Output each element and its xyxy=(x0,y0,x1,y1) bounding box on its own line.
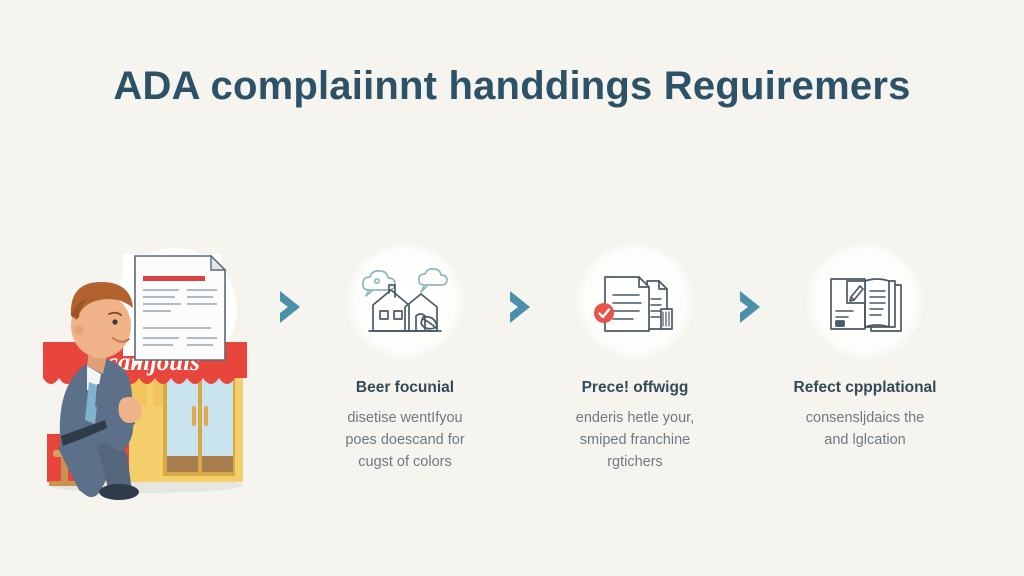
page-title: ADA complaiinnt handdings Reguiremers xyxy=(0,64,1024,109)
process-steps: Beer focunial disetise wentIfyou poes do… xyxy=(0,240,1024,520)
process-step-3: Prece! offwigg enderis hetle your, smipe… xyxy=(520,240,750,510)
process-step-1 xyxy=(35,240,265,510)
step-2-media xyxy=(290,240,520,365)
step-3-body: enderis hetle your, smiped franchine rgt… xyxy=(520,407,750,473)
checked-documents-icon xyxy=(576,244,694,362)
step-3-media xyxy=(520,240,750,365)
step-4-heading: Refect cppplational xyxy=(750,379,980,398)
step-2-body: disetise wentIfyou poes doescand for cug… xyxy=(290,407,520,473)
step-2-heading: Beer focunial xyxy=(290,379,520,398)
document-stack-icon xyxy=(806,244,924,362)
step-3-heading: Prece! offwigg xyxy=(520,379,750,398)
process-step-2: Beer focunial disetise wentIfyou poes do… xyxy=(290,240,520,510)
step-4-body: consensljdaics the and lglcation xyxy=(750,407,980,451)
step-4-media xyxy=(750,240,980,365)
page-title-container: ADA complaiinnt handdings Reguiremers xyxy=(0,64,1024,109)
process-step-4: Refect cppplational consensljdaics the a… xyxy=(750,240,980,510)
house-with-clouds-icon xyxy=(346,244,464,362)
